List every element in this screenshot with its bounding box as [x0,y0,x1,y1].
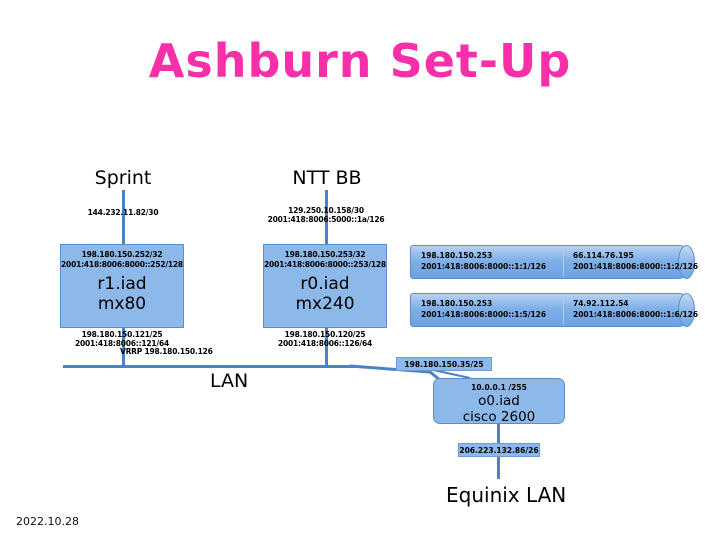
cyl1-left-v4: 198.180.150.253 [421,251,546,262]
peering-cylinder-2[interactable]: 198.180.150.253 2001:418:8006:8000::1:5/… [410,293,695,327]
r0-loopback-v6: 2001:418:8006:8000::253/128 [264,260,386,270]
router-r1-iad[interactable]: 198.180.150.252/32 2001:418:8006:8000::2… [60,244,184,328]
cyl2-left-v6: 2001:418:8006:8000::1:5/126 [421,310,546,321]
r1-loopback-v6: 2001:418:8006:8000::252/128 [61,260,183,270]
link-label-ntt-v6: 2001:418:8006:5000::1a/126 [259,215,393,225]
router-r0-iad[interactable]: 198.180.150.253/32 2001:418:8006:8000::2… [263,244,387,328]
lan-uplink-chip[interactable]: 198.180.150.35/25 [396,357,492,371]
o0-addr: 10.0.0.1 /255 [434,383,564,393]
cyl2-right-v4: 74.92.112.54 [573,299,698,310]
lan-bus-line [63,365,355,368]
link-label-sprint-v4: 144.232.11.82/30 [63,208,183,218]
slide-canvas: Ashburn Set-Up Sprint 144.232.11.82/30 1… [0,0,720,540]
equinix-chip[interactable]: 206.223.132.86/26 [458,443,540,457]
peer-label-sprint: Sprint [63,167,183,189]
vrrp-label: VRRP 198.180.150.126 [120,347,280,357]
link-o0-equinix-lower [497,457,500,479]
o0-model: cisco 2600 [434,409,564,425]
lan-label: LAN [210,370,248,392]
slide-date: 2022.10.28 [16,515,79,528]
r1-model: mx80 [61,294,183,314]
r0-loopback-v4: 198.180.150.253/32 [264,250,386,260]
r0-name: r0.iad [264,274,386,294]
r1-loopback-v4: 198.180.150.252/32 [61,250,183,260]
equinix-lan-label: Equinix LAN [446,483,566,507]
o0-name: o0.iad [434,393,564,409]
peering-cylinder-1[interactable]: 198.180.150.253 2001:418:8006:8000::1:1/… [410,245,695,279]
cyl1-left-v6: 2001:418:8006:8000::1:1/126 [421,262,546,273]
cyl2-left-v4: 198.180.150.253 [421,299,546,310]
router-o0-iad[interactable]: 10.0.0.1 /255 o0.iad cisco 2600 [433,378,565,424]
r0-model: mx240 [264,294,386,314]
r1-name: r1.iad [61,274,183,294]
cyl1-right-v6: 2001:418:8006:8000::1:2/126 [573,262,698,273]
cyl2-right-v6: 2001:418:8006:8000::1:6/126 [573,310,698,321]
page-title: Ashburn Set-Up [0,34,720,88]
cyl1-right-v4: 66.114.76.195 [573,251,698,262]
r0-lan-v6: 2001:418:8006::126/64 [265,339,385,349]
peer-label-ntt: NTT BB [262,167,392,189]
